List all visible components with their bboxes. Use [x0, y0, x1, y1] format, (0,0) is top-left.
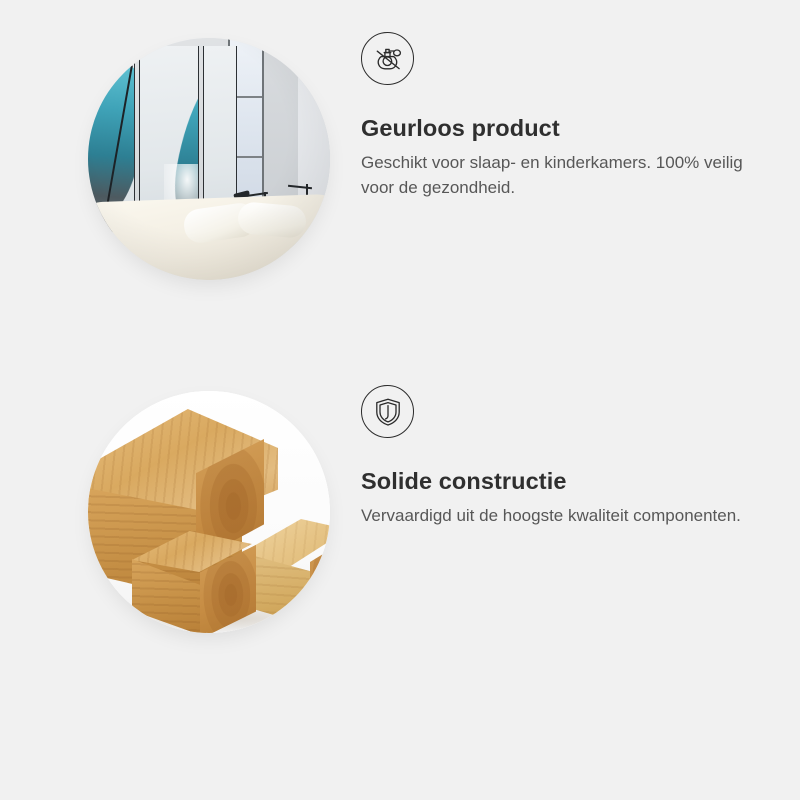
- shield-glyph: [372, 396, 404, 428]
- feature-description: Vervaardigd uit de hoogste kwaliteit com…: [361, 504, 751, 529]
- feature-title: Geurloos product: [361, 114, 761, 142]
- feature-copy-scent: Geurloos product Geschikt voor slaap- en…: [361, 32, 761, 201]
- feature-block-scent: Geurloos product Geschikt voor slaap- en…: [0, 32, 800, 382]
- feature-copy-construction: Solide constructie Vervaardigd uit de ho…: [361, 385, 761, 529]
- bedroom-feather-wall-art-photo: [88, 38, 330, 280]
- feature-block-construction: Solide constructie Vervaardigd uit de ho…: [0, 385, 800, 735]
- circular-photo-frame: [88, 391, 330, 633]
- feature-image-construction: [88, 391, 330, 633]
- feature-title: Solide constructie: [361, 467, 761, 495]
- feature-list-page: Geurloos product Geschikt voor slaap- en…: [0, 0, 800, 800]
- feature-image-scent: [88, 38, 330, 280]
- wooden-blocks-photo: [88, 391, 330, 633]
- circular-photo-frame: [88, 38, 330, 280]
- photo-vignette: [88, 38, 330, 280]
- shield-icon: [361, 385, 414, 438]
- feature-description: Geschikt voor slaap- en kinderkamers. 10…: [361, 151, 751, 201]
- no-fragrance-icon: [361, 32, 414, 85]
- no-fragrance-glyph: [371, 42, 405, 76]
